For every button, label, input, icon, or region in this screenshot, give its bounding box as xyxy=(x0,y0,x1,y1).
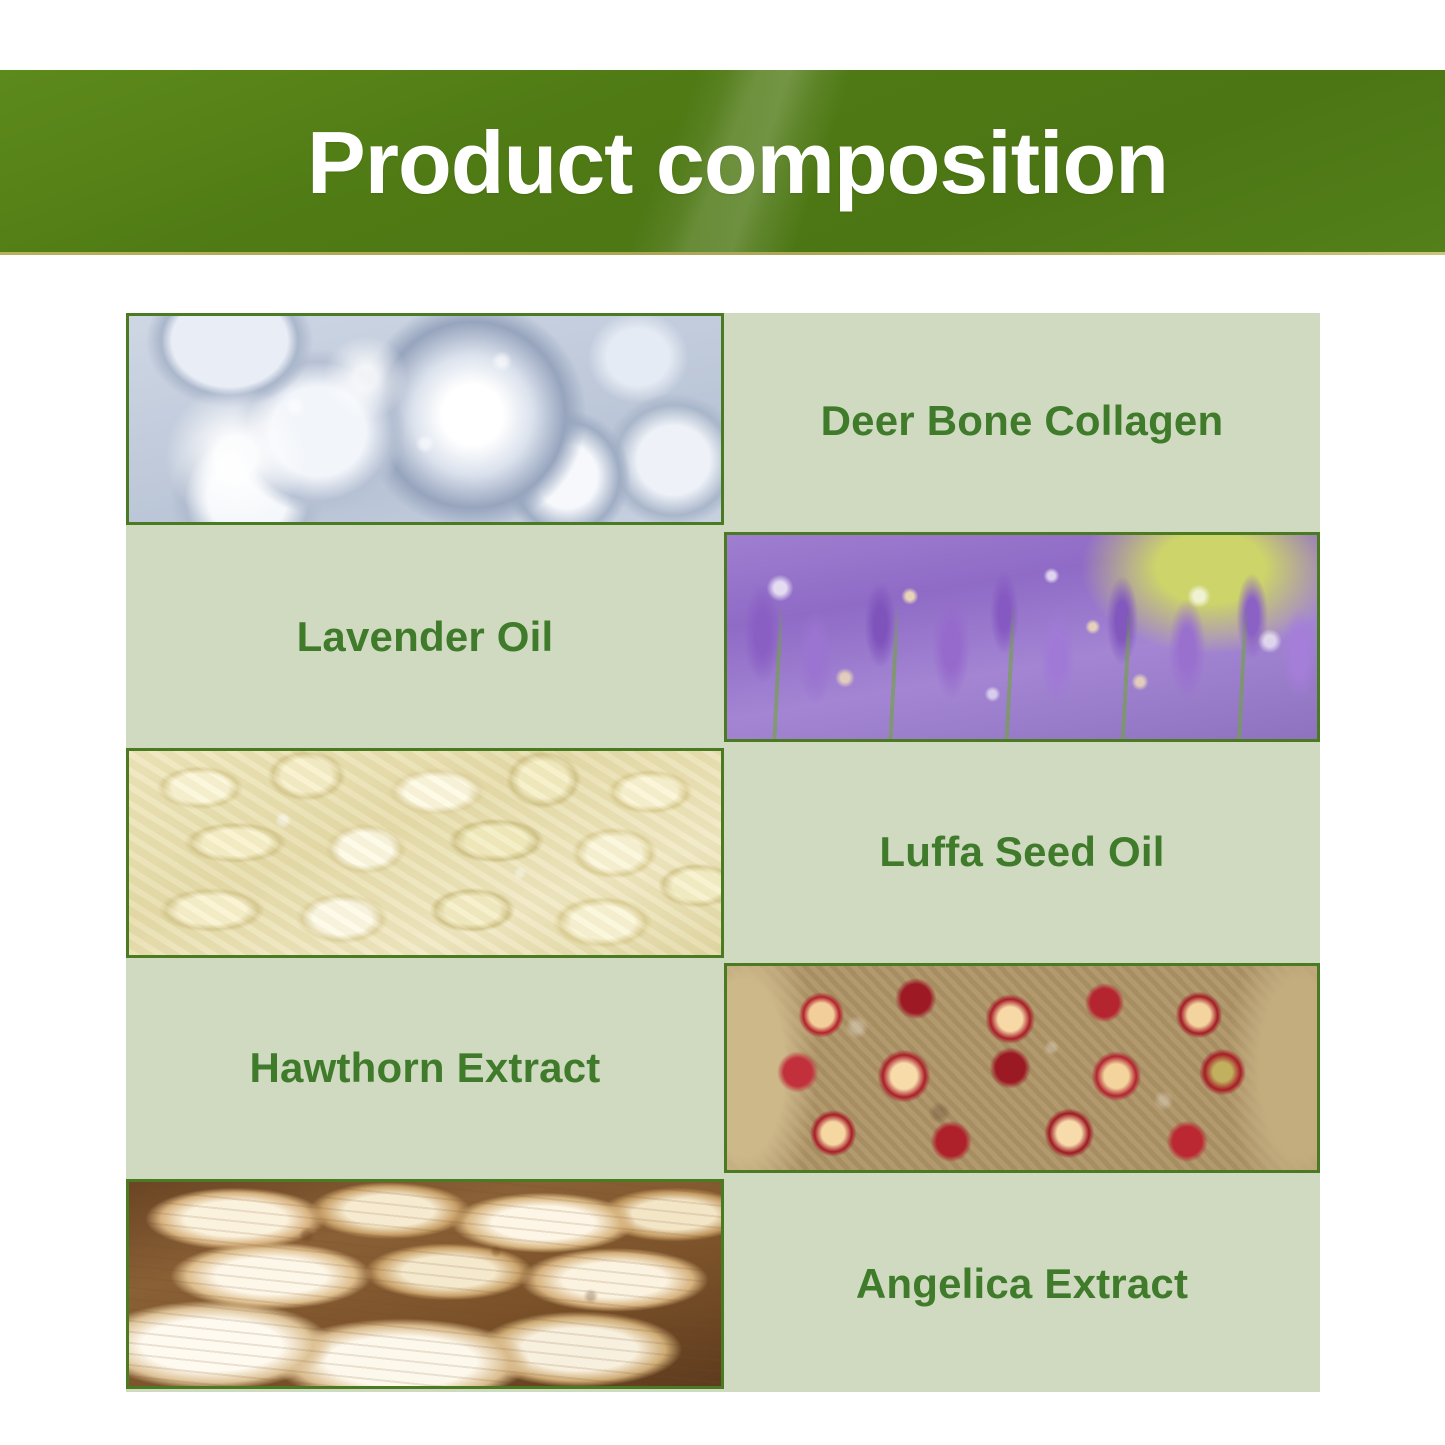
angelica-root-photo xyxy=(126,1179,724,1389)
hawthorn-berries-photo xyxy=(724,963,1320,1173)
ingredient-label-cell: Deer Bone Collagen xyxy=(724,313,1320,529)
ingredient-label: Angelica Extract xyxy=(856,1263,1188,1305)
ingredient-label: Deer Bone Collagen xyxy=(821,400,1224,442)
header-banner: Product composition xyxy=(0,70,1445,255)
luffa-seeds-artwork xyxy=(129,751,721,955)
ingredient-image-cell xyxy=(126,1176,724,1392)
ingredient-label-cell: Lavender Oil xyxy=(126,529,724,745)
lavender-field-photo xyxy=(724,532,1320,742)
ingredient-label-cell: Hawthorn Extract xyxy=(126,960,724,1176)
lavender-buds-detail xyxy=(727,535,1317,739)
ingredient-label: Hawthorn Extract xyxy=(250,1047,601,1089)
ingredient-row: Angelica Extract xyxy=(126,1176,1320,1392)
ingredient-label-cell: Luffa Seed Oil xyxy=(724,745,1320,961)
hawthorn-berries-artwork xyxy=(727,966,1317,1170)
ingredient-image-cell xyxy=(126,313,724,529)
lavender-field-artwork xyxy=(727,535,1317,739)
ingredient-image-cell xyxy=(126,745,724,961)
ingredient-row: Deer Bone Collagen xyxy=(126,313,1320,529)
ingredient-label: Luffa Seed Oil xyxy=(879,831,1164,873)
angelica-root-artwork xyxy=(129,1182,721,1386)
water-bubbles-photo xyxy=(126,313,724,525)
ingredient-grid: Deer Bone Collagen Lavender Oil xyxy=(126,313,1320,1392)
ingredient-label: Lavender Oil xyxy=(297,616,554,658)
ingredient-row: Luffa Seed Oil xyxy=(126,745,1320,961)
ingredient-label-cell: Angelica Extract xyxy=(724,1176,1320,1392)
luffa-seeds-photo xyxy=(126,748,724,958)
ingredient-image-cell xyxy=(724,960,1320,1176)
water-bubbles-artwork xyxy=(129,316,721,522)
ingredient-image-cell xyxy=(724,529,1320,745)
page-title: Product composition xyxy=(0,70,1445,255)
ingredient-row: Lavender Oil xyxy=(126,529,1320,745)
product-composition-page: Product composition Deer Bone Collagen L… xyxy=(0,0,1445,1445)
ingredient-row: Hawthorn Extract xyxy=(126,960,1320,1176)
